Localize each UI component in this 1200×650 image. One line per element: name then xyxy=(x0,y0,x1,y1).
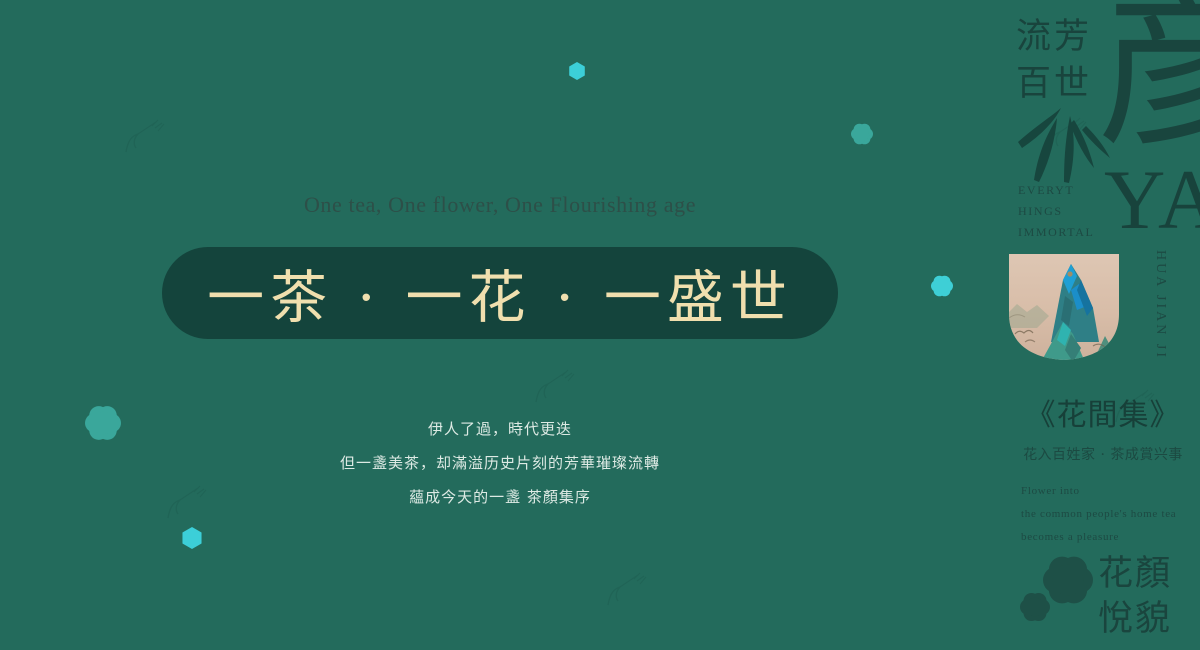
main-content-column: One tea, One flower, One Flourishing age… xyxy=(0,0,1000,650)
hexagon-dot-top-center xyxy=(568,62,586,80)
body-copy: 伊人了過，時代更迭 但一盞美茶，却滿溢历史片刻的芳華璀璨流轉 蘊成今天的一盞 茶… xyxy=(0,412,1000,514)
body-line-1: 伊人了過，時代更迭 xyxy=(0,412,1000,446)
bamboo-leaf-icon xyxy=(1012,92,1122,184)
english-motto-line-2: HINGS xyxy=(1018,201,1094,222)
book-title: 《花間集》 xyxy=(1008,390,1198,434)
tea-bowl-image xyxy=(1007,250,1121,362)
flower-dot-upper-right xyxy=(851,123,873,145)
seal-text: 花顏 悅貌 xyxy=(1098,552,1172,642)
flower-seal-small xyxy=(1020,592,1050,622)
seal-line-2: 悅貌 xyxy=(1098,597,1172,642)
body-line-2: 但一盞美茶，却滿溢历史片刻的芳華璀璨流轉 xyxy=(0,446,1000,480)
flower-dot-mid-right xyxy=(931,275,953,297)
book-english-line-3: becomes a pleasure xyxy=(1021,526,1176,549)
seal-line-1: 花顏 xyxy=(1098,552,1172,597)
right-side-panel: 流芳 百世 彦 YA EVERYT HINGS IMMORTAL xyxy=(1000,0,1200,650)
title-pill-banner: 一茶 · 一花 · 一盛世 xyxy=(162,247,838,339)
english-motto-line-3: IMMORTAL xyxy=(1018,222,1094,243)
flower-dot-left xyxy=(85,405,121,441)
poster-canvas: One tea, One flower, One Flourishing age… xyxy=(0,0,1200,650)
body-line-3: 蘊成今天的一盞 茶顏集序 xyxy=(0,480,1000,514)
flower-seal-large xyxy=(1043,555,1093,605)
eyebrow-tagline: One tea, One flower, One Flourishing age xyxy=(0,192,1000,218)
vertical-romanization: HUA JIAN JI xyxy=(1152,250,1168,360)
hexagon-dot-lower-left xyxy=(181,527,203,549)
book-subtitle: 花入百姓家 · 茶成賞兴事 xyxy=(1008,444,1198,464)
english-motto-line-1: EVERYT xyxy=(1018,180,1094,201)
book-english-line-2: the common people's home tea xyxy=(1021,503,1176,526)
page-title: 一茶 · 一花 · 一盛世 xyxy=(162,247,838,339)
book-english-caption: Flower into the common people's home tea… xyxy=(1021,480,1176,549)
book-english-line-1: Flower into xyxy=(1021,480,1176,503)
english-motto-stack: EVERYT HINGS IMMORTAL xyxy=(1018,180,1094,243)
